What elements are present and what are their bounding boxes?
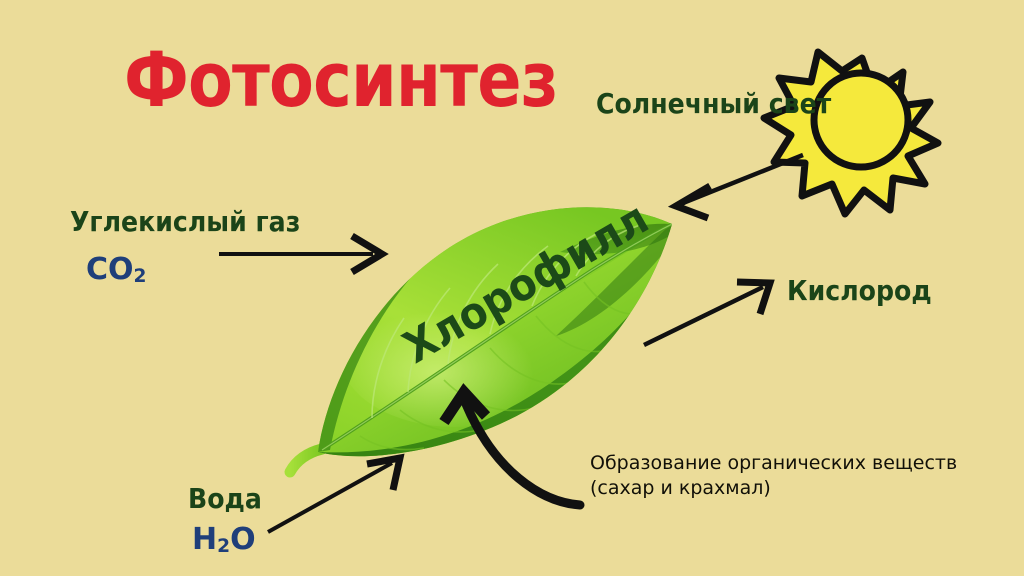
sunlight-label: Солнечный свет — [596, 90, 831, 118]
h2o-formula-sub: 2 — [217, 536, 230, 557]
water-formula: H2O — [192, 525, 256, 555]
carbon-dioxide-formula: CO2 — [86, 255, 146, 285]
organics-caption-line1: Образование органических веществ — [590, 451, 957, 476]
co2-formula-main: CO — [86, 252, 134, 287]
oxygen-arrow — [644, 282, 770, 345]
co2-arrow — [219, 236, 382, 272]
page-title: Фотосинтез — [124, 42, 558, 118]
organics-caption: Образование органических веществ (сахар … — [590, 451, 957, 501]
oxygen-label: Кислород — [787, 277, 932, 305]
co2-formula-sub: 2 — [134, 266, 147, 287]
h2o-formula-main: H — [192, 522, 217, 557]
sun-icon — [764, 52, 938, 214]
h2o-formula-tail: O — [230, 522, 256, 557]
water-label: Вода — [188, 485, 262, 513]
carbon-dioxide-label: Углекислый газ — [70, 208, 300, 236]
organics-caption-line2: (сахар и крахмал) — [590, 476, 957, 501]
photosynthesis-diagram: Фотосинтез Углекислый газ CO2 Вода H2O С… — [0, 0, 1024, 576]
sunlight-arrow — [676, 155, 803, 218]
